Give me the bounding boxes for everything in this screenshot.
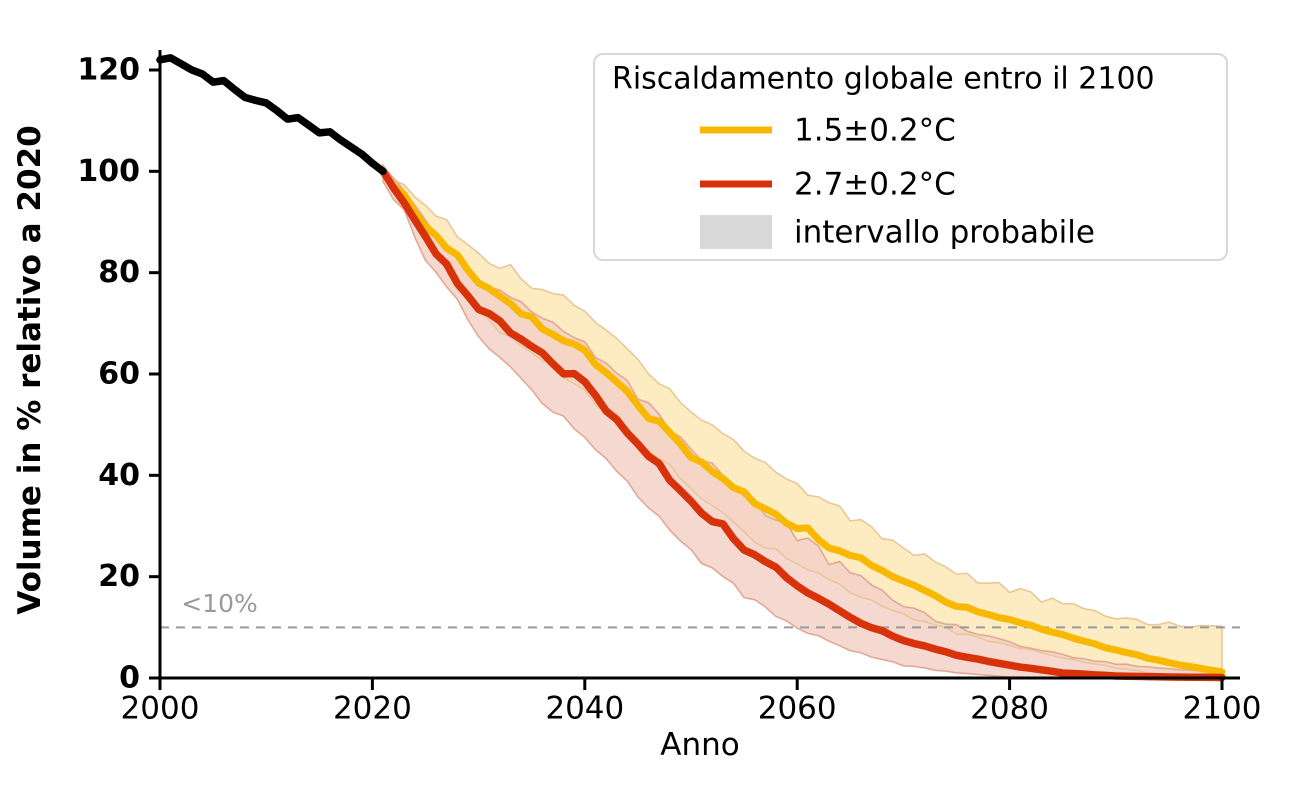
y-tick-label: 40 bbox=[98, 458, 140, 493]
x-axis-ticks: 200020202040206020802100 bbox=[121, 678, 1262, 726]
x-tick-label: 2020 bbox=[333, 690, 412, 726]
y-tick-label: 100 bbox=[77, 154, 140, 189]
x-tick-label: 2100 bbox=[1183, 690, 1262, 726]
x-axis-title: Anno bbox=[660, 727, 739, 763]
x-tick-label: 2040 bbox=[545, 690, 624, 726]
volume-projection-chart: <10% 020406080100120 2000202020402060208… bbox=[0, 0, 1300, 800]
legend-patch-swatch bbox=[700, 215, 772, 249]
y-tick-label: 60 bbox=[98, 357, 140, 392]
y-tick-label: 120 bbox=[77, 53, 140, 88]
legend-entry-label: intervallo probabile bbox=[794, 215, 1095, 251]
legend-entry-label: 2.7±0.2°C bbox=[794, 167, 956, 203]
chart-figure: <10% 020406080100120 2000202020402060208… bbox=[0, 0, 1300, 800]
y-tick-label: 80 bbox=[98, 255, 140, 290]
x-tick-label: 2000 bbox=[121, 690, 200, 726]
y-tick-label: 20 bbox=[98, 559, 140, 594]
y-axis-ticks: 020406080100120 bbox=[77, 53, 160, 696]
threshold-label: <10% bbox=[181, 589, 258, 618]
legend-title: Riscaldamento globale entro il 2100 bbox=[612, 62, 1155, 97]
legend: Riscaldamento globale entro il 2100 1.5±… bbox=[594, 54, 1227, 260]
x-tick-label: 2060 bbox=[758, 690, 837, 726]
y-axis-title: Volume in % relativo a 2020 bbox=[12, 125, 48, 614]
legend-entry-label: 1.5±0.2°C bbox=[794, 113, 956, 149]
x-tick-label: 2080 bbox=[970, 690, 1049, 726]
line-historical bbox=[160, 58, 383, 171]
